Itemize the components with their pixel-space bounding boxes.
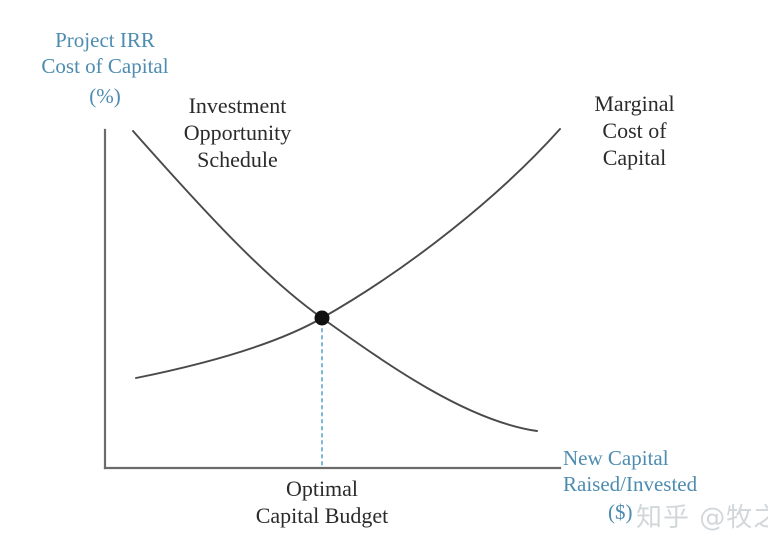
marginal-cost-of-capital-label: Marginal Cost of Capital: [552, 91, 717, 171]
optimal-capital-budget-label: Optimal Capital Budget: [222, 476, 422, 530]
y-axis-title: Project IRR Cost of Capital: [20, 28, 190, 79]
chart-figure: Project IRR Cost of Capital (%) Investme…: [0, 0, 768, 540]
investment-opportunity-schedule-curve: [133, 131, 537, 431]
x-axis-title: New Capital Raised/Invested: [563, 446, 763, 497]
investment-opportunity-schedule-label: Investment Opportunity Schedule: [150, 93, 325, 173]
watermark: 知乎 @牧之: [636, 497, 768, 534]
intersection-point-marker: [315, 311, 330, 326]
